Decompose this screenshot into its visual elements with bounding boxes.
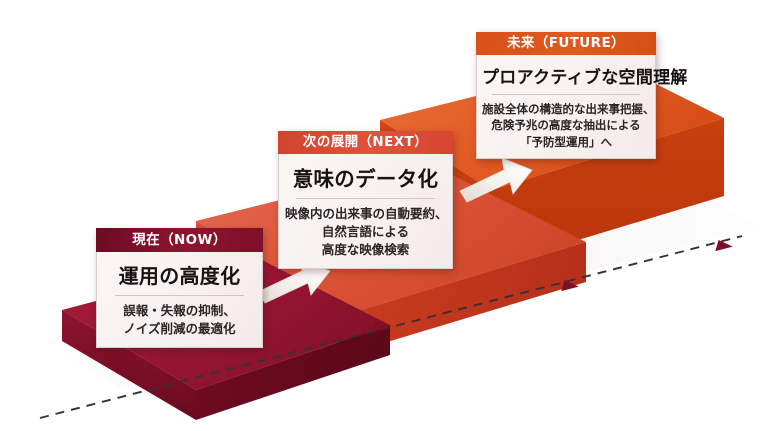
stage-now-description-line: ノイズ削減の最適化 <box>103 320 256 338</box>
stage-future-header: 未来（FUTURE） <box>476 32 656 55</box>
stage-now-header: 現在（NOW） <box>96 228 263 252</box>
stage-future-description-line: 危険予兆の高度な抽出による <box>482 117 650 133</box>
stage-next-header: 次の展開（NEXT） <box>278 131 453 154</box>
stage-future-body: プロアクティブな空間理解 施設全体の構造的な出来事把握、 危険予兆の高度な抽出に… <box>476 55 656 159</box>
stage-next-title: 意味のデータ化 <box>285 161 446 198</box>
stage-now-body: 運用の高度化 誤報・失報の抑制、 ノイズ削減の最適化 <box>96 252 263 348</box>
stage-future-title: プロアクティブな空間理解 <box>482 62 650 94</box>
diagram-canvas: 現在（NOW） 運用の高度化 誤報・失報の抑制、 ノイズ削減の最適化 次の展開（… <box>0 0 784 431</box>
stage-future-description-line: 「予防型運用」へ <box>482 134 650 150</box>
stage-next-body: 意味のデータ化 映像内の出来事の自動要約、 自然言語による 高度な映像検索 <box>278 154 453 269</box>
stage-future-description: 施設全体の構造的な出来事把握、 危険予兆の高度な抽出による 「予防型運用」へ <box>482 101 650 150</box>
stage-card-now[interactable]: 現在（NOW） 運用の高度化 誤報・失報の抑制、 ノイズ削減の最適化 <box>96 228 263 348</box>
stage-now-description: 誤報・失報の抑制、 ノイズ削減の最適化 <box>103 302 256 338</box>
stage-next-description-line: 映像内の出来事の自動要約、 <box>285 205 446 223</box>
stage-card-future[interactable]: 未来（FUTURE） プロアクティブな空間理解 施設全体の構造的な出来事把握、 … <box>476 32 656 159</box>
stage-now-title: 運用の高度化 <box>103 259 256 295</box>
stage-next-description-line: 自然言語による <box>285 223 446 241</box>
stage-future-divider <box>492 94 640 95</box>
stage-next-description-line: 高度な映像検索 <box>285 241 446 259</box>
stage-next-divider <box>296 198 434 199</box>
stage-future-description-line: 施設全体の構造的な出来事把握、 <box>482 101 650 117</box>
stage-next-description: 映像内の出来事の自動要約、 自然言語による 高度な映像検索 <box>285 205 446 259</box>
stage-card-next[interactable]: 次の展開（NEXT） 意味のデータ化 映像内の出来事の自動要約、 自然言語による… <box>278 131 453 269</box>
stage-now-description-line: 誤報・失報の抑制、 <box>103 302 256 320</box>
stage-now-divider <box>115 295 244 296</box>
